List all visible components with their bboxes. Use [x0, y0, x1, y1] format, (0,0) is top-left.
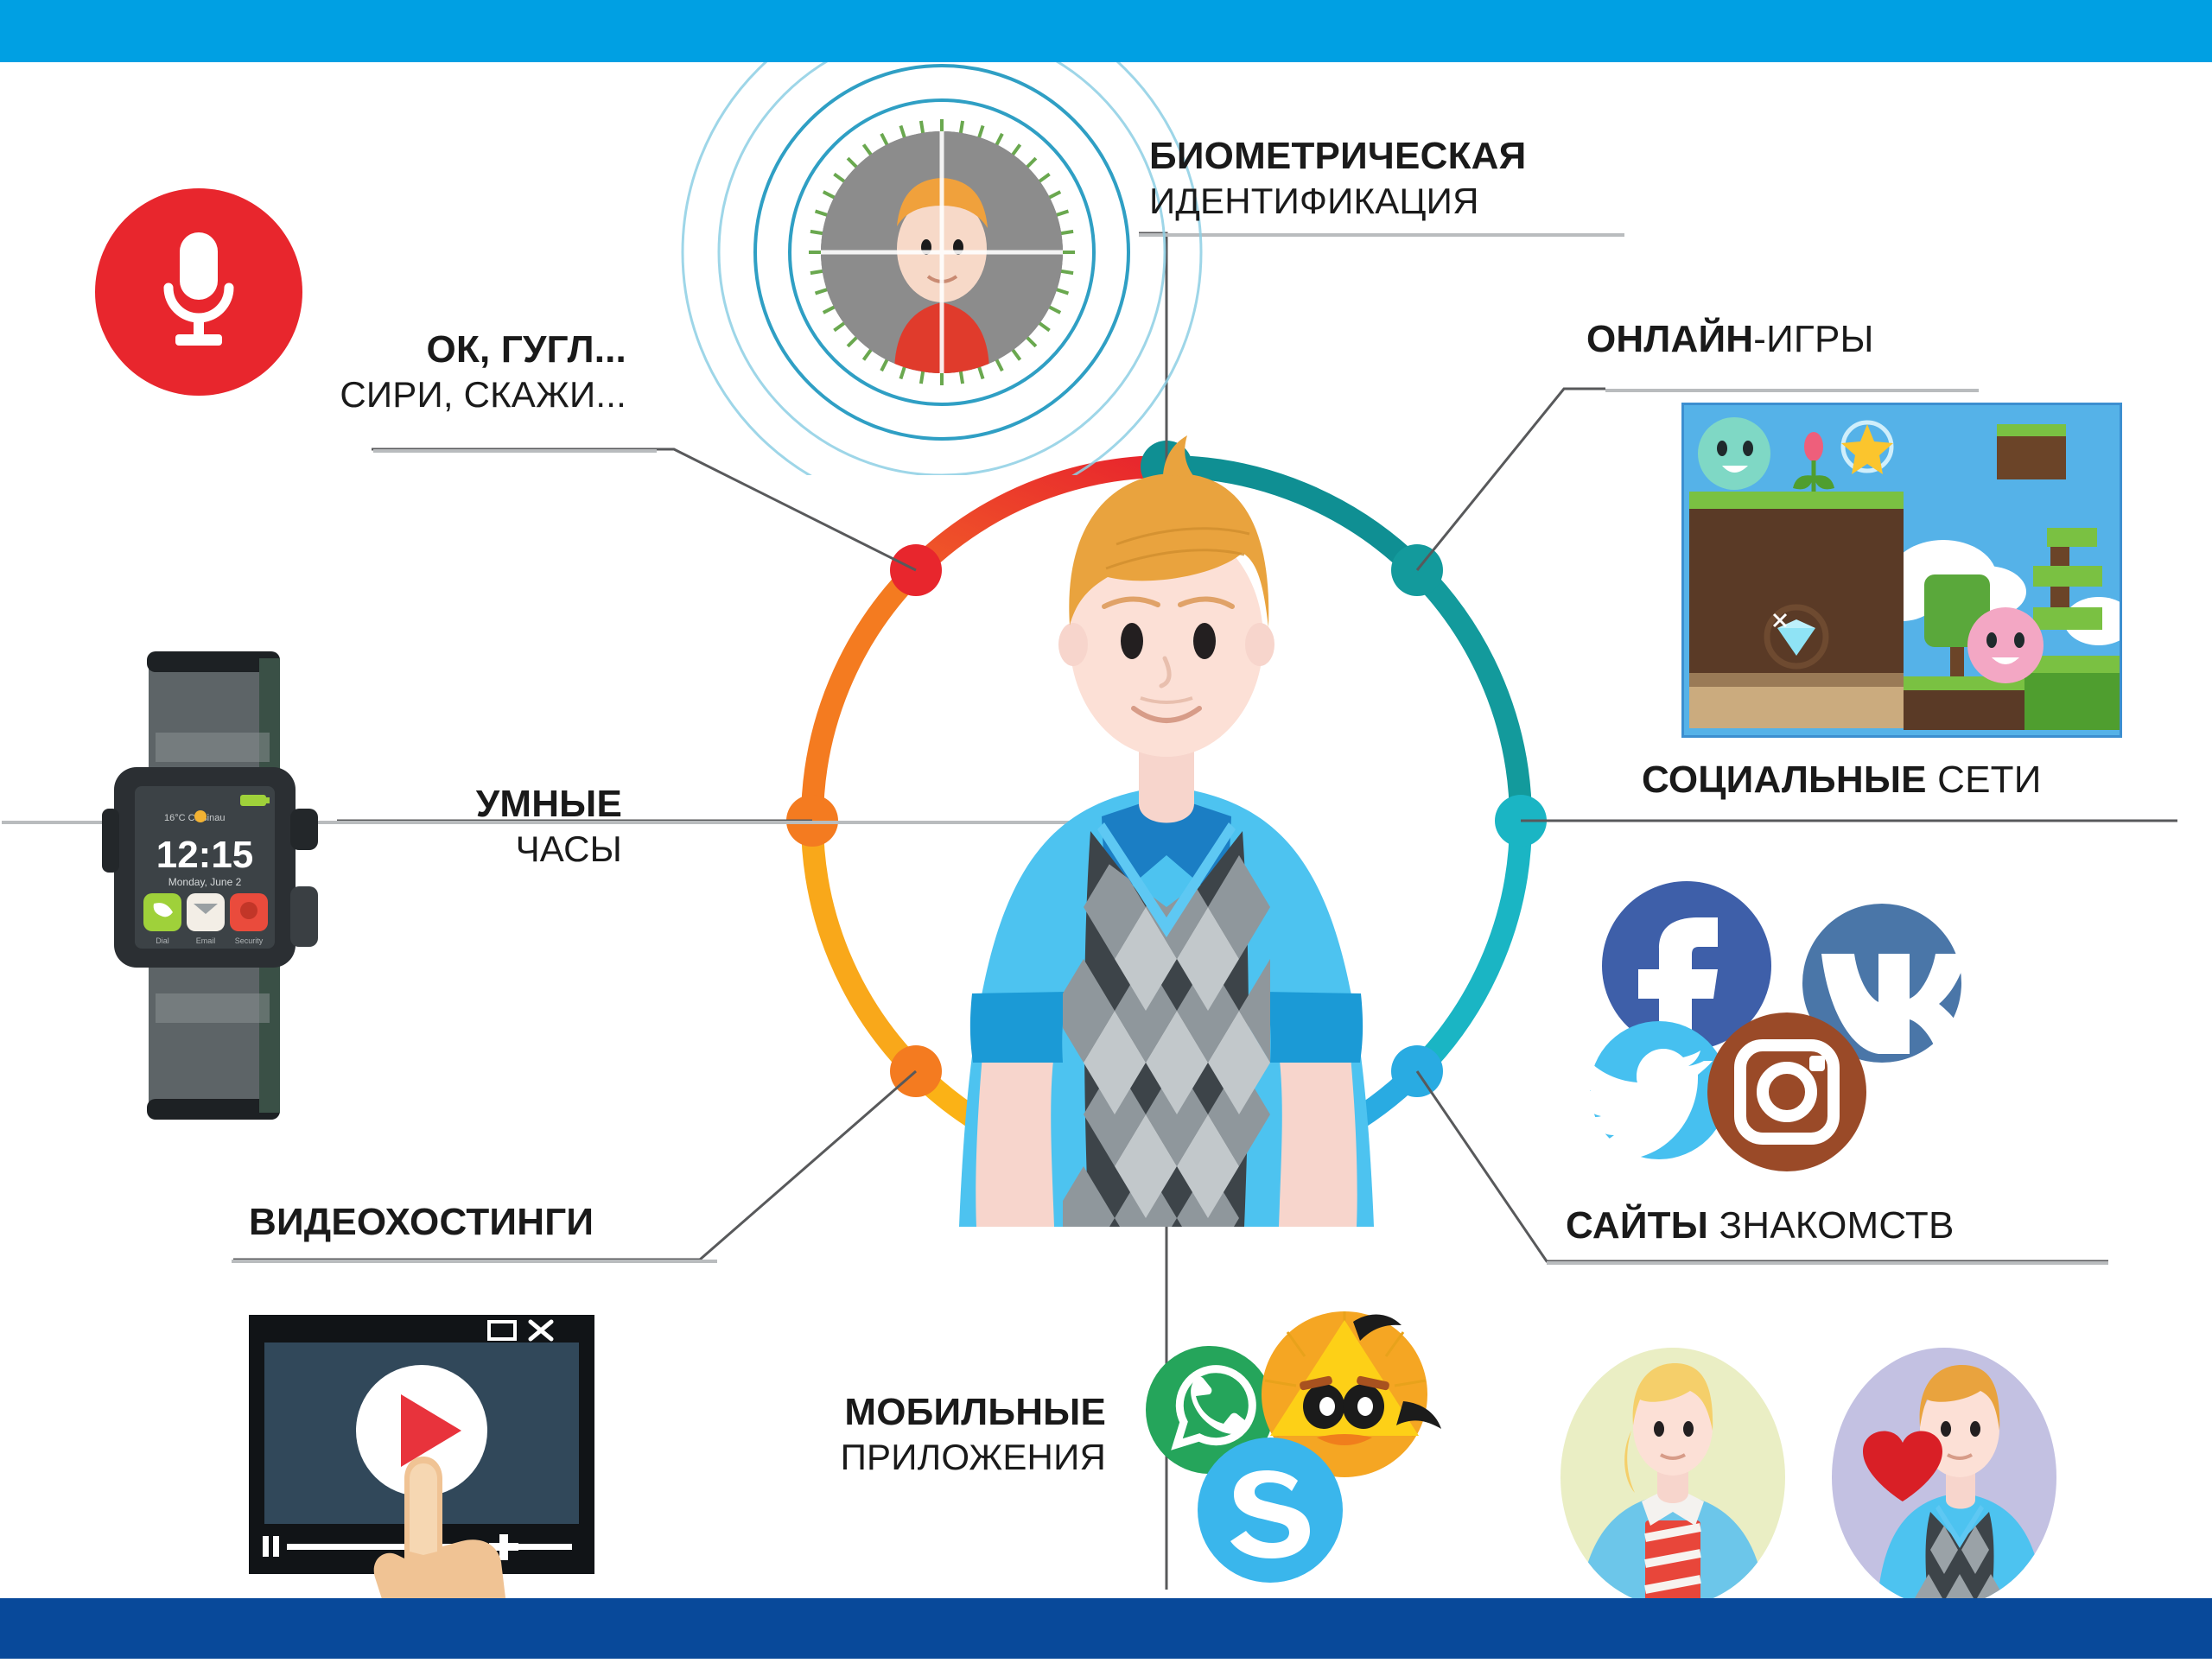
label-dating-rest: ЗНАКОМСТВ: [1708, 1204, 1954, 1247]
watch-status-text: 16°C Chisinau: [164, 813, 225, 823]
microphone-icon: [151, 227, 246, 357]
online-game-screenshot: [1681, 403, 2122, 738]
svg-text:Email: Email: [196, 936, 216, 945]
label-dating-bold: САЙТЫ: [1566, 1204, 1708, 1247]
svg-text:Dial: Dial: [156, 936, 169, 945]
label-video-hosting: ВИДЕОХОСТИНГИ: [249, 1203, 594, 1243]
social-icons-cluster: [1581, 873, 1987, 1175]
label-video-line1: ВИДЕОХОСТИНГИ: [249, 1203, 594, 1243]
label-biometric-line1: БИОМЕТРИЧЕСКАЯ: [1149, 136, 1526, 177]
top-accent-bar: [0, 0, 2212, 62]
label-apps-line2: ПРИЛОЖЕНИЯ: [709, 1438, 1106, 1477]
label-online-games: ОНЛАЙН-ИГРЫ: [1586, 320, 1874, 360]
label-games-bold: ОНЛАЙН: [1586, 318, 1753, 360]
game-character-pink: [1967, 607, 2044, 683]
watch-date: Monday, June 2: [168, 876, 242, 888]
label-mobile-apps: МОБИЛЬНЫЕ ПРИЛОЖЕНИЯ: [709, 1393, 1106, 1476]
boy-avatar: [1832, 1348, 2056, 1607]
label-biometric-line2: ИДЕНТИФИКАЦИЯ: [1149, 182, 1526, 221]
game-character-green: [1698, 417, 1770, 490]
label-smart-watch: УМНЫЕ ЧАСЫ: [397, 784, 622, 868]
bottom-accent-bar: [0, 1598, 2212, 1659]
label-dating-sites: САЙТЫ ЗНАКОМСТВ: [1566, 1206, 1955, 1247]
dating-avatars: [1555, 1348, 2091, 1607]
label-social-networks: СОЦИАЛЬНЫЕ СЕТИ: [1642, 760, 2042, 801]
watch-time: 12:15: [156, 834, 254, 876]
instagram-icon: [1707, 1012, 1866, 1171]
label-watch-line1: УМНЫЕ: [397, 784, 622, 825]
smart-watch-graphic: 16°C Chisinau 12:15 Monday, June 2 Dial …: [95, 639, 337, 1132]
ring-node-watch: [786, 795, 838, 847]
label-social-rest: СЕТИ: [1927, 759, 2042, 801]
girl-avatar: [1560, 1348, 1785, 1607]
label-watch-line2: ЧАСЫ: [397, 830, 622, 869]
label-apps-line1: МОБИЛЬНЫЕ: [709, 1393, 1106, 1433]
label-social-bold: СОЦИАЛЬНЫЕ: [1642, 759, 1927, 801]
mobile-apps-cluster: [1139, 1306, 1467, 1609]
teen-character: [890, 423, 1443, 1227]
label-games-rest: -ИГРЫ: [1753, 318, 1873, 360]
infographic-canvas: БИОМЕТРИЧЕСКАЯ ИДЕНТИФИКАЦИЯ ОК, ГУГЛ...…: [0, 0, 2212, 1659]
ring-node-social: [1495, 795, 1547, 847]
svg-text:Security: Security: [235, 936, 264, 945]
biometric-scan-graphic: [635, 26, 1266, 475]
voice-assistant-badge: [95, 188, 302, 396]
label-biometric: БИОМЕТРИЧЕСКАЯ ИДЕНТИФИКАЦИЯ: [1149, 136, 1526, 220]
